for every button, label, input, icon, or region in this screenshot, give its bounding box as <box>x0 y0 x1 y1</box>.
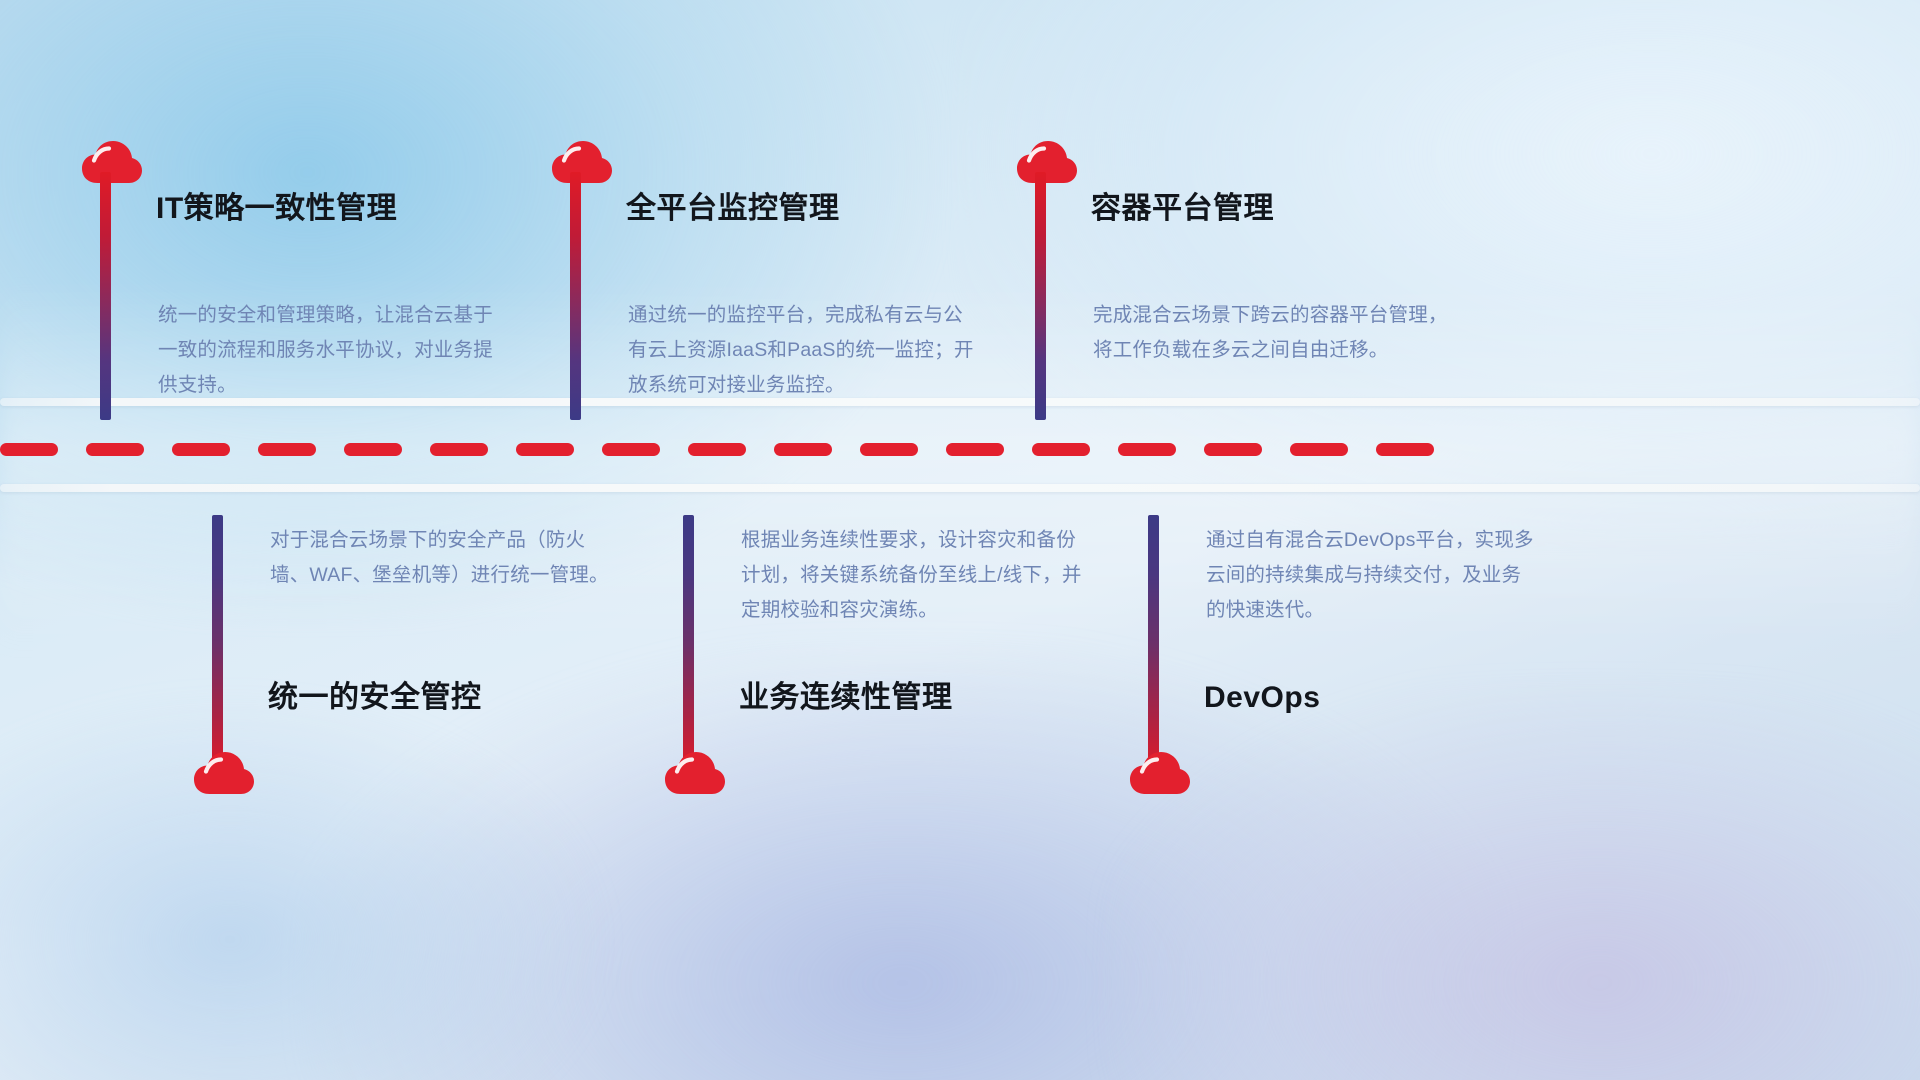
road-dash-segment <box>1118 443 1176 456</box>
cloud-icon <box>193 751 255 795</box>
card-description: 统一的安全和管理策略，让混合云基于一致的流程和服务水平协议，对业务提供支持。 <box>158 298 510 403</box>
road-dashed-center-line <box>0 443 1920 456</box>
road-dash-segment <box>602 443 660 456</box>
card-description: 对于混合云场景下的安全产品（防火墙、WAF、堡垒机等）进行统一管理。 <box>270 523 622 593</box>
accent-bar <box>1148 515 1159 763</box>
cloud-icon <box>551 140 613 184</box>
road-dash-segment <box>860 443 918 456</box>
road-divider <box>0 398 1920 492</box>
road-dash-segment <box>430 443 488 456</box>
road-dash-segment <box>946 443 1004 456</box>
infographic-canvas: IT策略一致性管理 统一的安全和管理策略，让混合云基于一致的流程和服务水平协议，… <box>0 0 1920 1080</box>
card-description: 完成混合云场景下跨云的容器平台管理，将工作负载在多云之间自由迁移。 <box>1093 298 1453 368</box>
road-dash-segment <box>516 443 574 456</box>
accent-bar <box>212 515 223 763</box>
road-dash-segment <box>1376 443 1434 456</box>
road-dash-segment <box>1204 443 1262 456</box>
accent-bar <box>1035 172 1046 420</box>
card-title: DevOps <box>1204 683 1320 713</box>
card-title: IT策略一致性管理 <box>156 194 397 224</box>
card-title: 业务连续性管理 <box>739 683 953 713</box>
cloud-icon <box>81 140 143 184</box>
road-dash-segment <box>1290 443 1348 456</box>
accent-bar <box>570 172 581 420</box>
card-description: 通过统一的监控平台，完成私有云与公有云上资源IaaS和PaaS的统一监控；开放系… <box>628 298 980 403</box>
accent-bar <box>683 515 694 763</box>
card-title: 容器平台管理 <box>1091 194 1274 224</box>
road-dash-segment <box>688 443 746 456</box>
accent-bar <box>100 172 111 420</box>
road-edge-bottom <box>0 484 1920 492</box>
cloud-icon <box>1016 140 1078 184</box>
card-title: 全平台监控管理 <box>626 194 840 224</box>
road-dash-segment <box>344 443 402 456</box>
road-dash-segment <box>172 443 230 456</box>
background-glow-bottom-right <box>1114 691 1920 1080</box>
road-dash-segment <box>86 443 144 456</box>
road-dash-segment <box>258 443 316 456</box>
road-dash-segment <box>774 443 832 456</box>
road-dash-segment <box>1032 443 1090 456</box>
card-title: 统一的安全管控 <box>268 683 482 713</box>
card-description: 根据业务连续性要求，设计容灾和备份计划，将关键系统备份至线上/线下，并定期校验和… <box>741 523 1093 628</box>
cloud-icon <box>664 751 726 795</box>
card-description: 通过自有混合云DevOps平台，实现多云间的持续集成与持续交付，及业务的快速迭代… <box>1206 523 1536 628</box>
road-dash-segment <box>0 443 58 456</box>
background-glow-bottom-left <box>0 691 614 1080</box>
cloud-icon <box>1129 751 1191 795</box>
